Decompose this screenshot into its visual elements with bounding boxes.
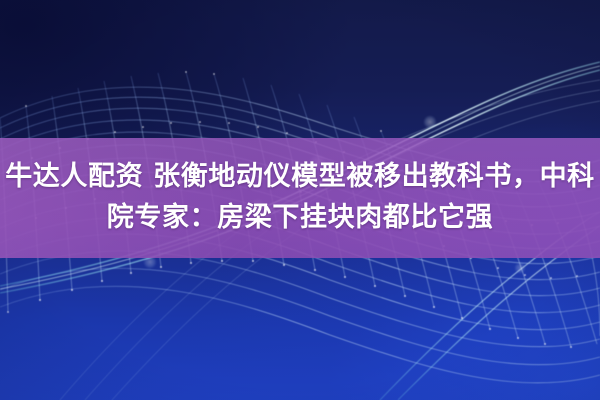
banner-image: 牛达人配资 张衡地动仪模型被移出教科书，中科 院专家：房梁下挂块肉都比它强	[0, 0, 600, 400]
headline-line-1: 牛达人配资 张衡地动仪模型被移出教科书，中科	[5, 160, 595, 195]
headline-block: 牛达人配资 张衡地动仪模型被移出教科书，中科 院专家：房梁下挂块肉都比它强	[0, 138, 600, 258]
headline-line-2: 院专家：房梁下挂块肉都比它强	[107, 201, 493, 236]
